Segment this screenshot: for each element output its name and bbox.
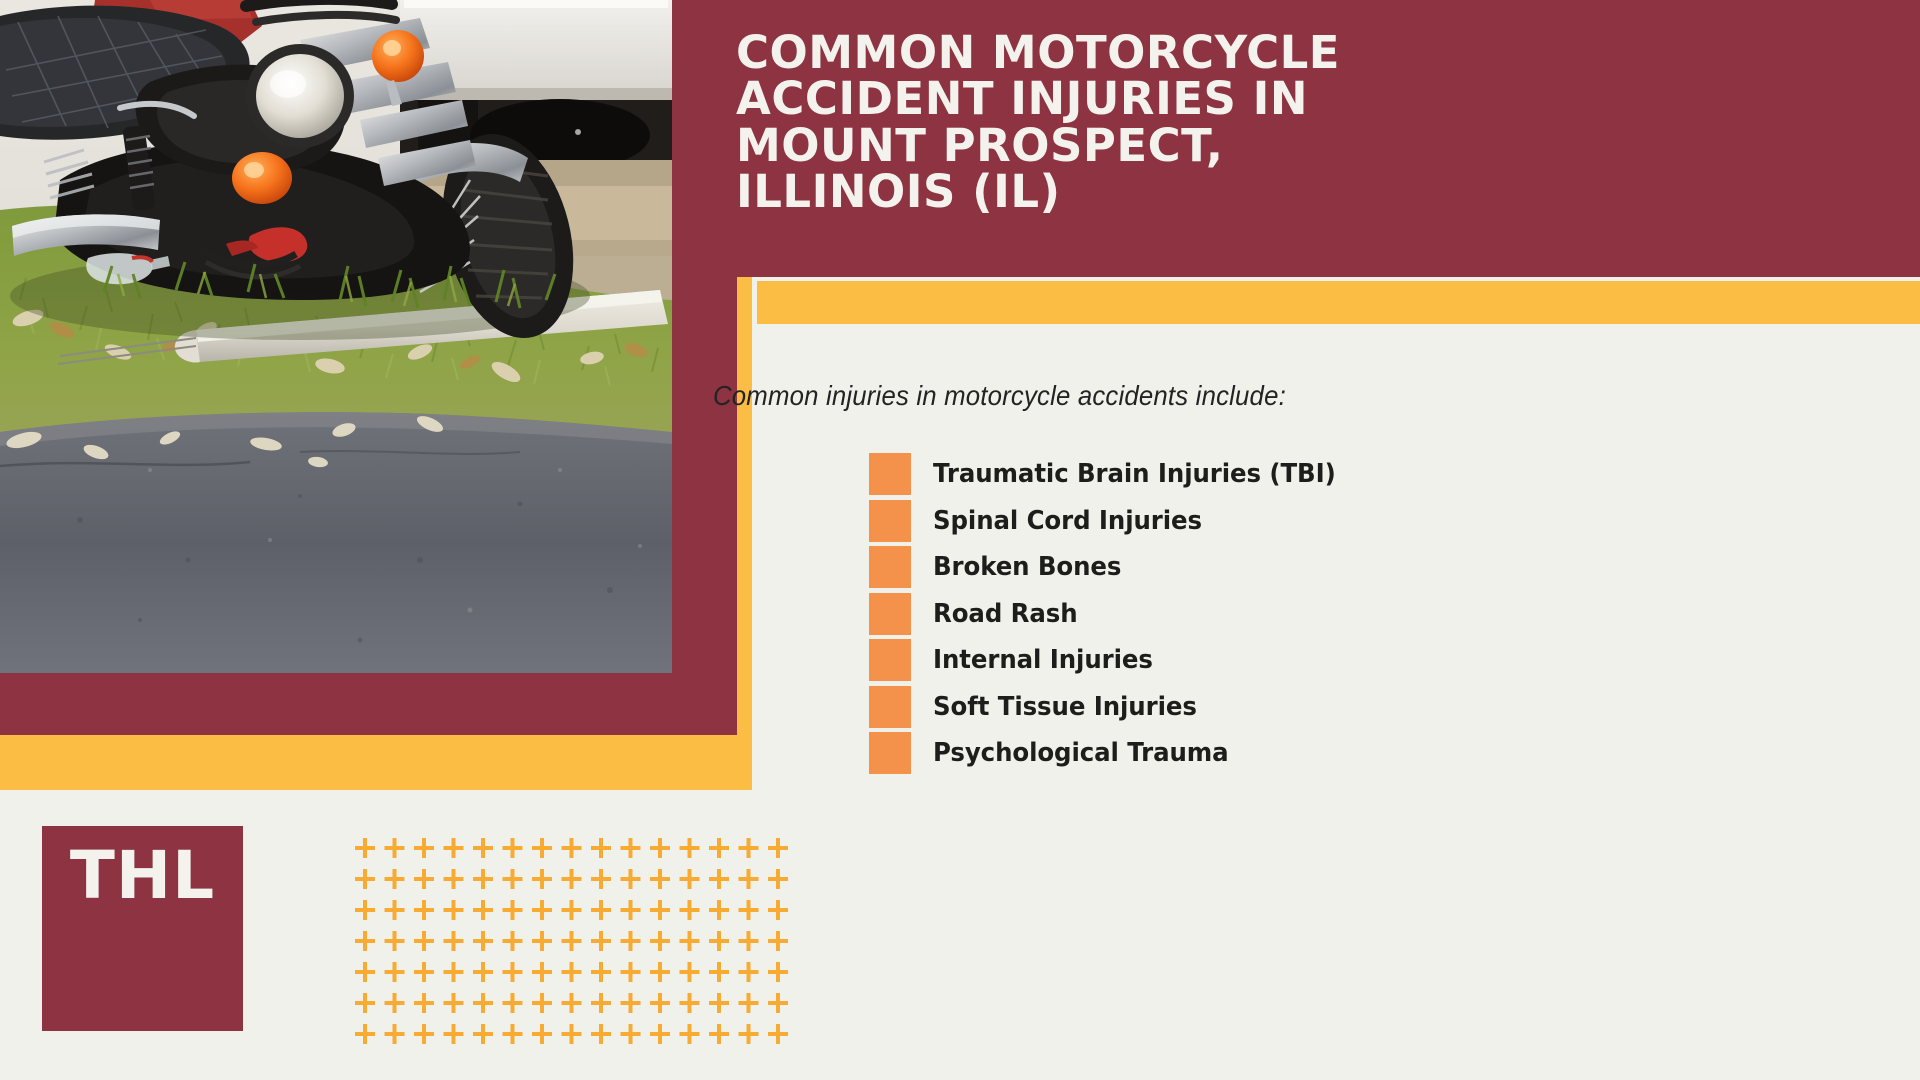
square-bullet-icon bbox=[869, 500, 911, 542]
list-item: Broken Bones bbox=[869, 544, 1920, 591]
square-bullet-icon bbox=[869, 546, 911, 588]
plus-grid-decoration bbox=[353, 836, 791, 1056]
thl-logo: THL bbox=[42, 826, 243, 1031]
section-subtitle: Common injuries in motorcycle accidents … bbox=[713, 380, 1823, 412]
title-accent-bar bbox=[757, 281, 1920, 324]
injury-list: Traumatic Brain Injuries (TBI) Spinal Co… bbox=[869, 451, 1920, 777]
list-item: Spinal Cord Injuries bbox=[869, 498, 1920, 545]
square-bullet-icon bbox=[869, 639, 911, 681]
photo-composition bbox=[0, 0, 752, 790]
list-item: Road Rash bbox=[869, 591, 1920, 638]
square-bullet-icon bbox=[869, 732, 911, 774]
list-item: Psychological Trauma bbox=[869, 730, 1920, 777]
list-item-label: Psychological Trauma bbox=[933, 738, 1229, 768]
infographic-canvas: COMMON MOTORCYCLE ACCIDENT INJURIES IN M… bbox=[0, 0, 1920, 1080]
logo-text: THL bbox=[70, 843, 215, 909]
list-item-label: Spinal Cord Injuries bbox=[933, 506, 1202, 536]
list-item: Traumatic Brain Injuries (TBI) bbox=[869, 451, 1920, 498]
list-item: Soft Tissue Injuries bbox=[869, 684, 1920, 731]
square-bullet-icon bbox=[869, 593, 911, 635]
motorcycle-crash-photo bbox=[0, 0, 672, 673]
list-item-label: Internal Injuries bbox=[933, 645, 1153, 675]
list-item-label: Road Rash bbox=[933, 599, 1078, 629]
list-item-label: Soft Tissue Injuries bbox=[933, 692, 1197, 722]
content-area: Common injuries in motorcycle accidents … bbox=[710, 380, 1920, 1000]
page-title: COMMON MOTORCYCLE ACCIDENT INJURIES IN M… bbox=[736, 30, 1880, 215]
list-item-label: Broken Bones bbox=[933, 552, 1121, 582]
square-bullet-icon bbox=[869, 686, 911, 728]
title-banner: COMMON MOTORCYCLE ACCIDENT INJURIES IN M… bbox=[710, 0, 1920, 277]
list-item: Internal Injuries bbox=[869, 637, 1920, 684]
square-bullet-icon bbox=[869, 453, 911, 495]
list-item-label: Traumatic Brain Injuries (TBI) bbox=[933, 459, 1336, 489]
